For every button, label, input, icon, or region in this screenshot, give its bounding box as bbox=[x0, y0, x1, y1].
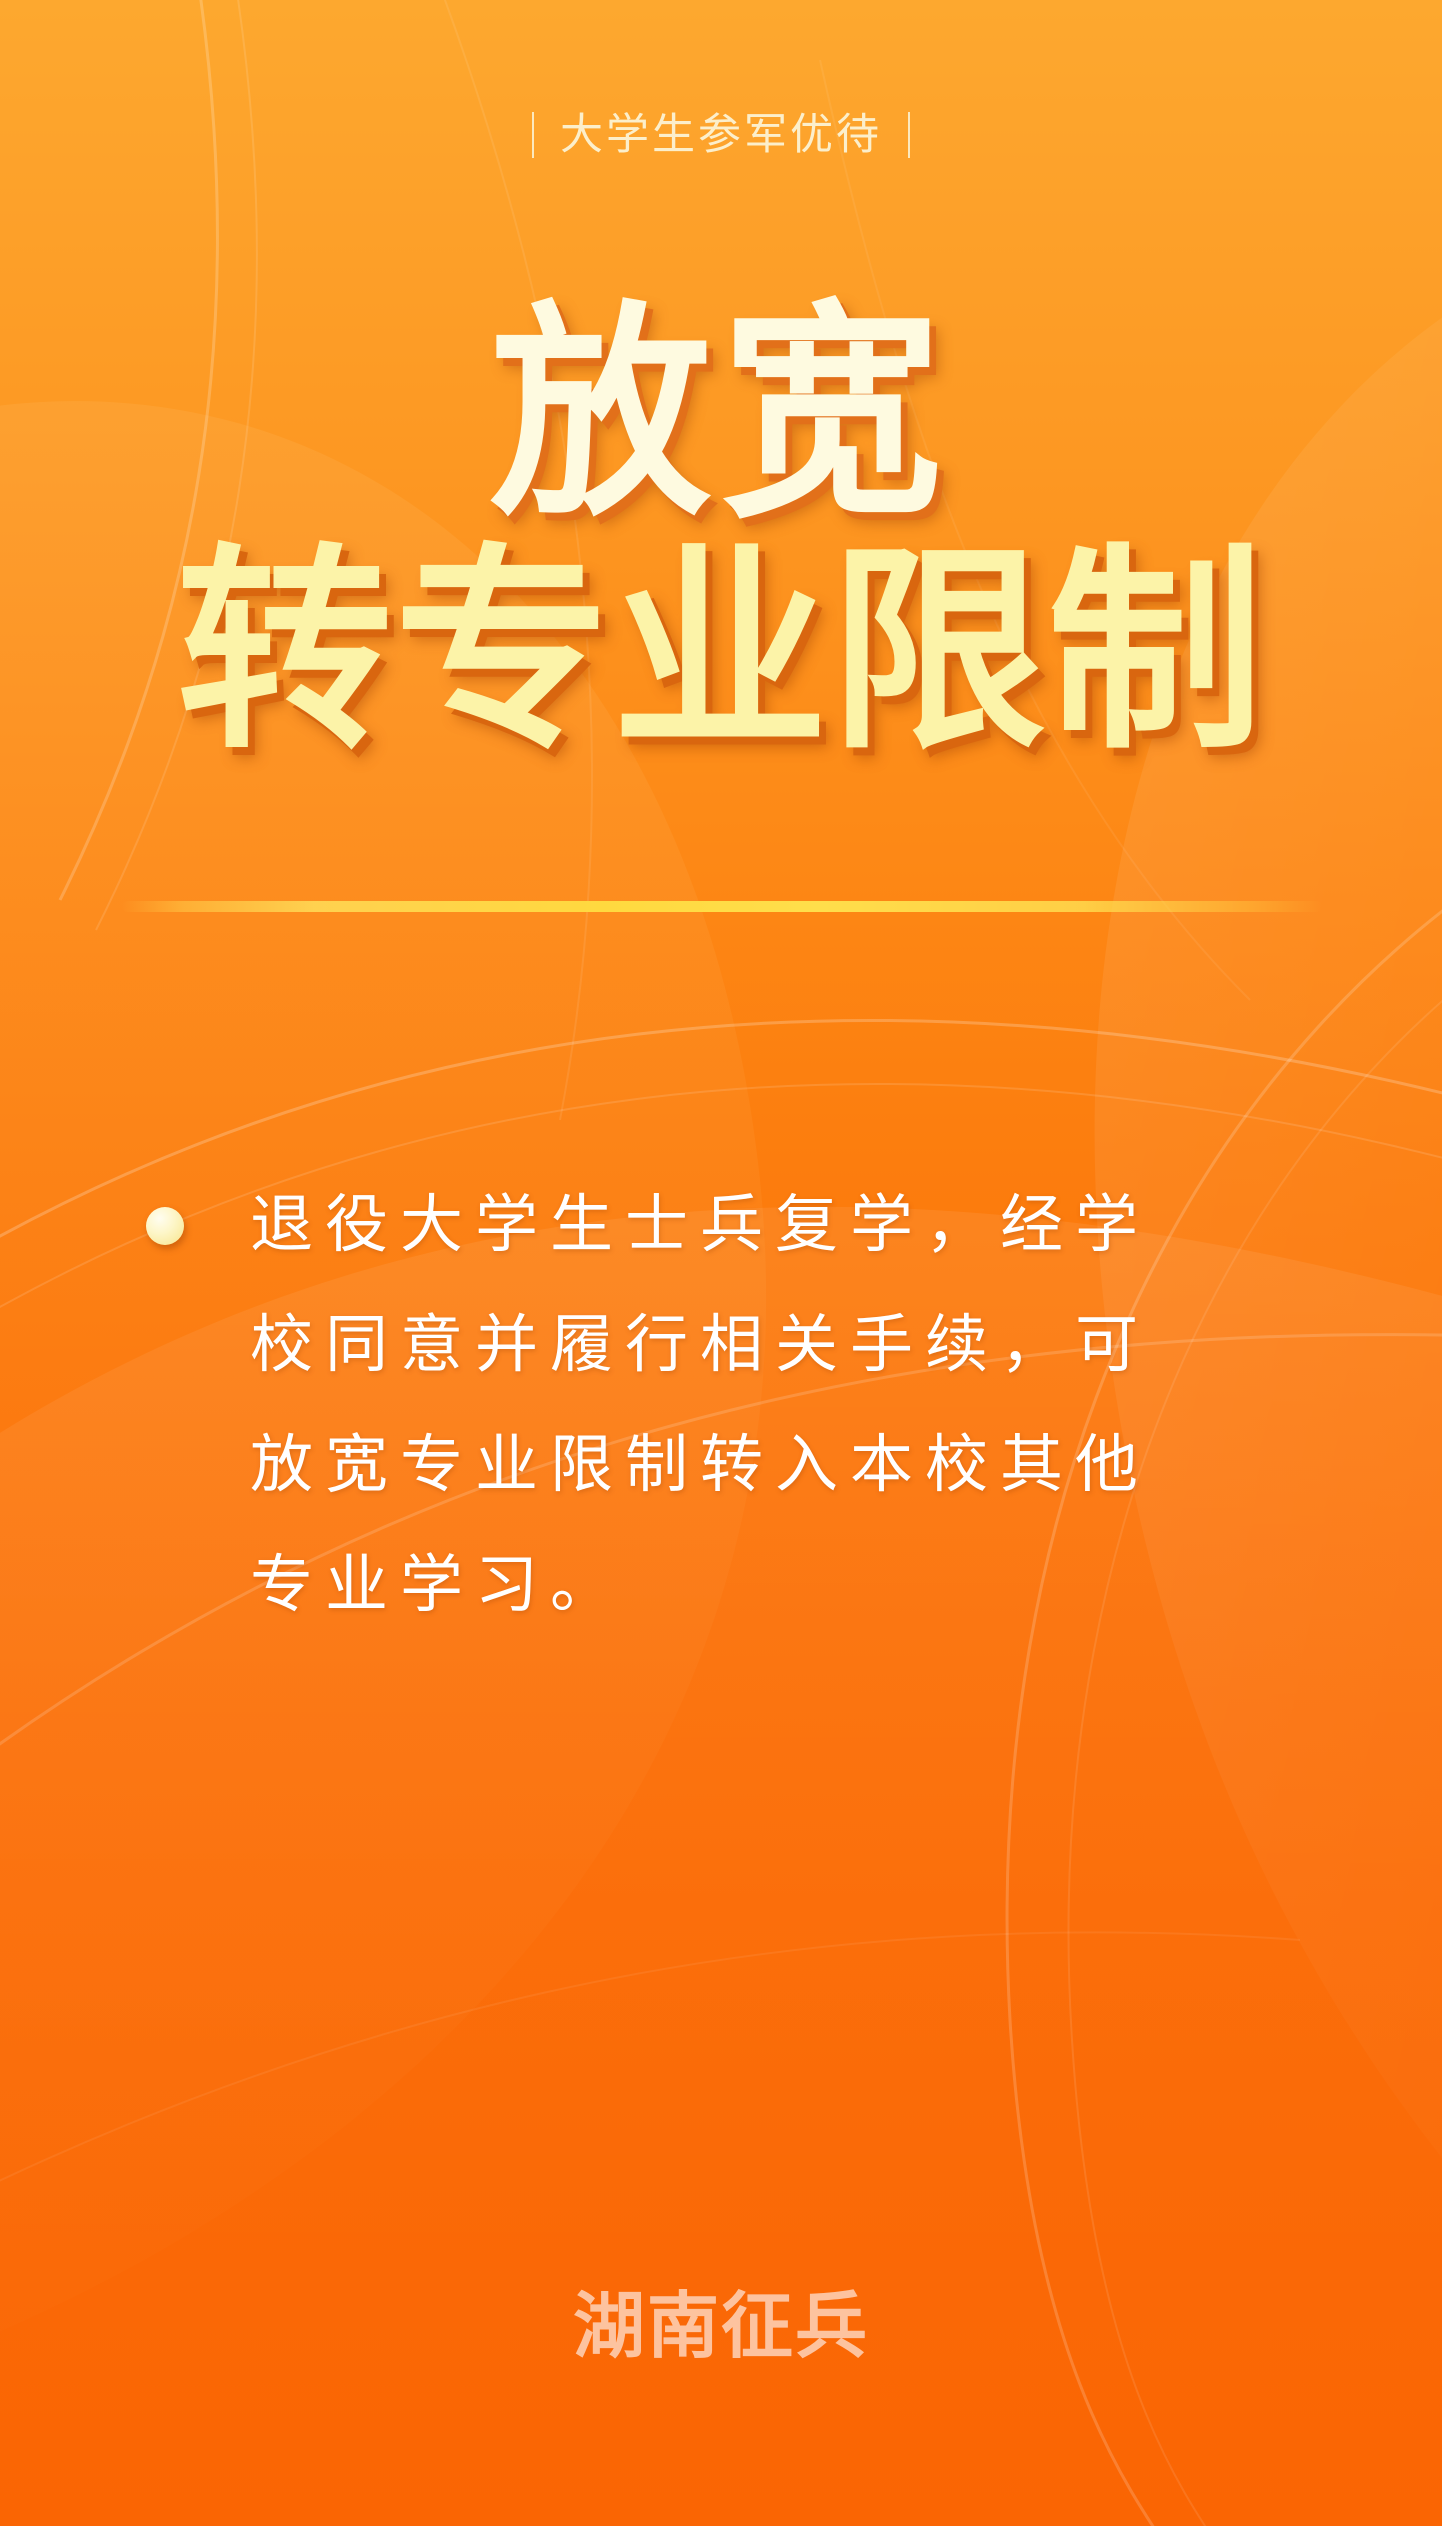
body-line: 放宽专业限制转入本校其他 bbox=[250, 1405, 1321, 1525]
bullet-point-icon bbox=[146, 1207, 184, 1245]
eyebrow-header: 大学生参军优待 bbox=[0, 112, 1442, 158]
body-paragraph: 退役大学生士兵复学，经学 校同意并履行相关手续，可 放宽专业限制转入本校其他 专… bbox=[250, 1165, 1321, 1645]
body-line: 退役大学生士兵复学，经学 bbox=[250, 1165, 1321, 1285]
poster-canvas: 大学生参军优待 放宽 转专业限制 退役大学生士兵复学，经学 校同意并履行相关手续… bbox=[0, 0, 1442, 2526]
body-section: 退役大学生士兵复学，经学 校同意并履行相关手续，可 放宽专业限制转入本校其他 专… bbox=[146, 1165, 1321, 1645]
title-line-two: 转专业限制 bbox=[7, 544, 1435, 762]
eyebrow-divider-right-icon bbox=[908, 112, 910, 158]
page-title: 放宽 转专业限制 bbox=[0, 300, 1442, 762]
title-line-one: 放宽 bbox=[22, 300, 1421, 528]
section-divider bbox=[122, 901, 1322, 912]
body-line: 校同意并履行相关手续，可 bbox=[250, 1285, 1321, 1405]
eyebrow-divider-left-icon bbox=[532, 112, 534, 158]
body-line: 专业学习。 bbox=[250, 1525, 1321, 1645]
eyebrow-label: 大学生参军优待 bbox=[560, 114, 882, 157]
footer: 湖南征兵 bbox=[0, 2290, 1442, 2362]
brand-wordmark: 湖南征兵 bbox=[573, 2284, 869, 2368]
